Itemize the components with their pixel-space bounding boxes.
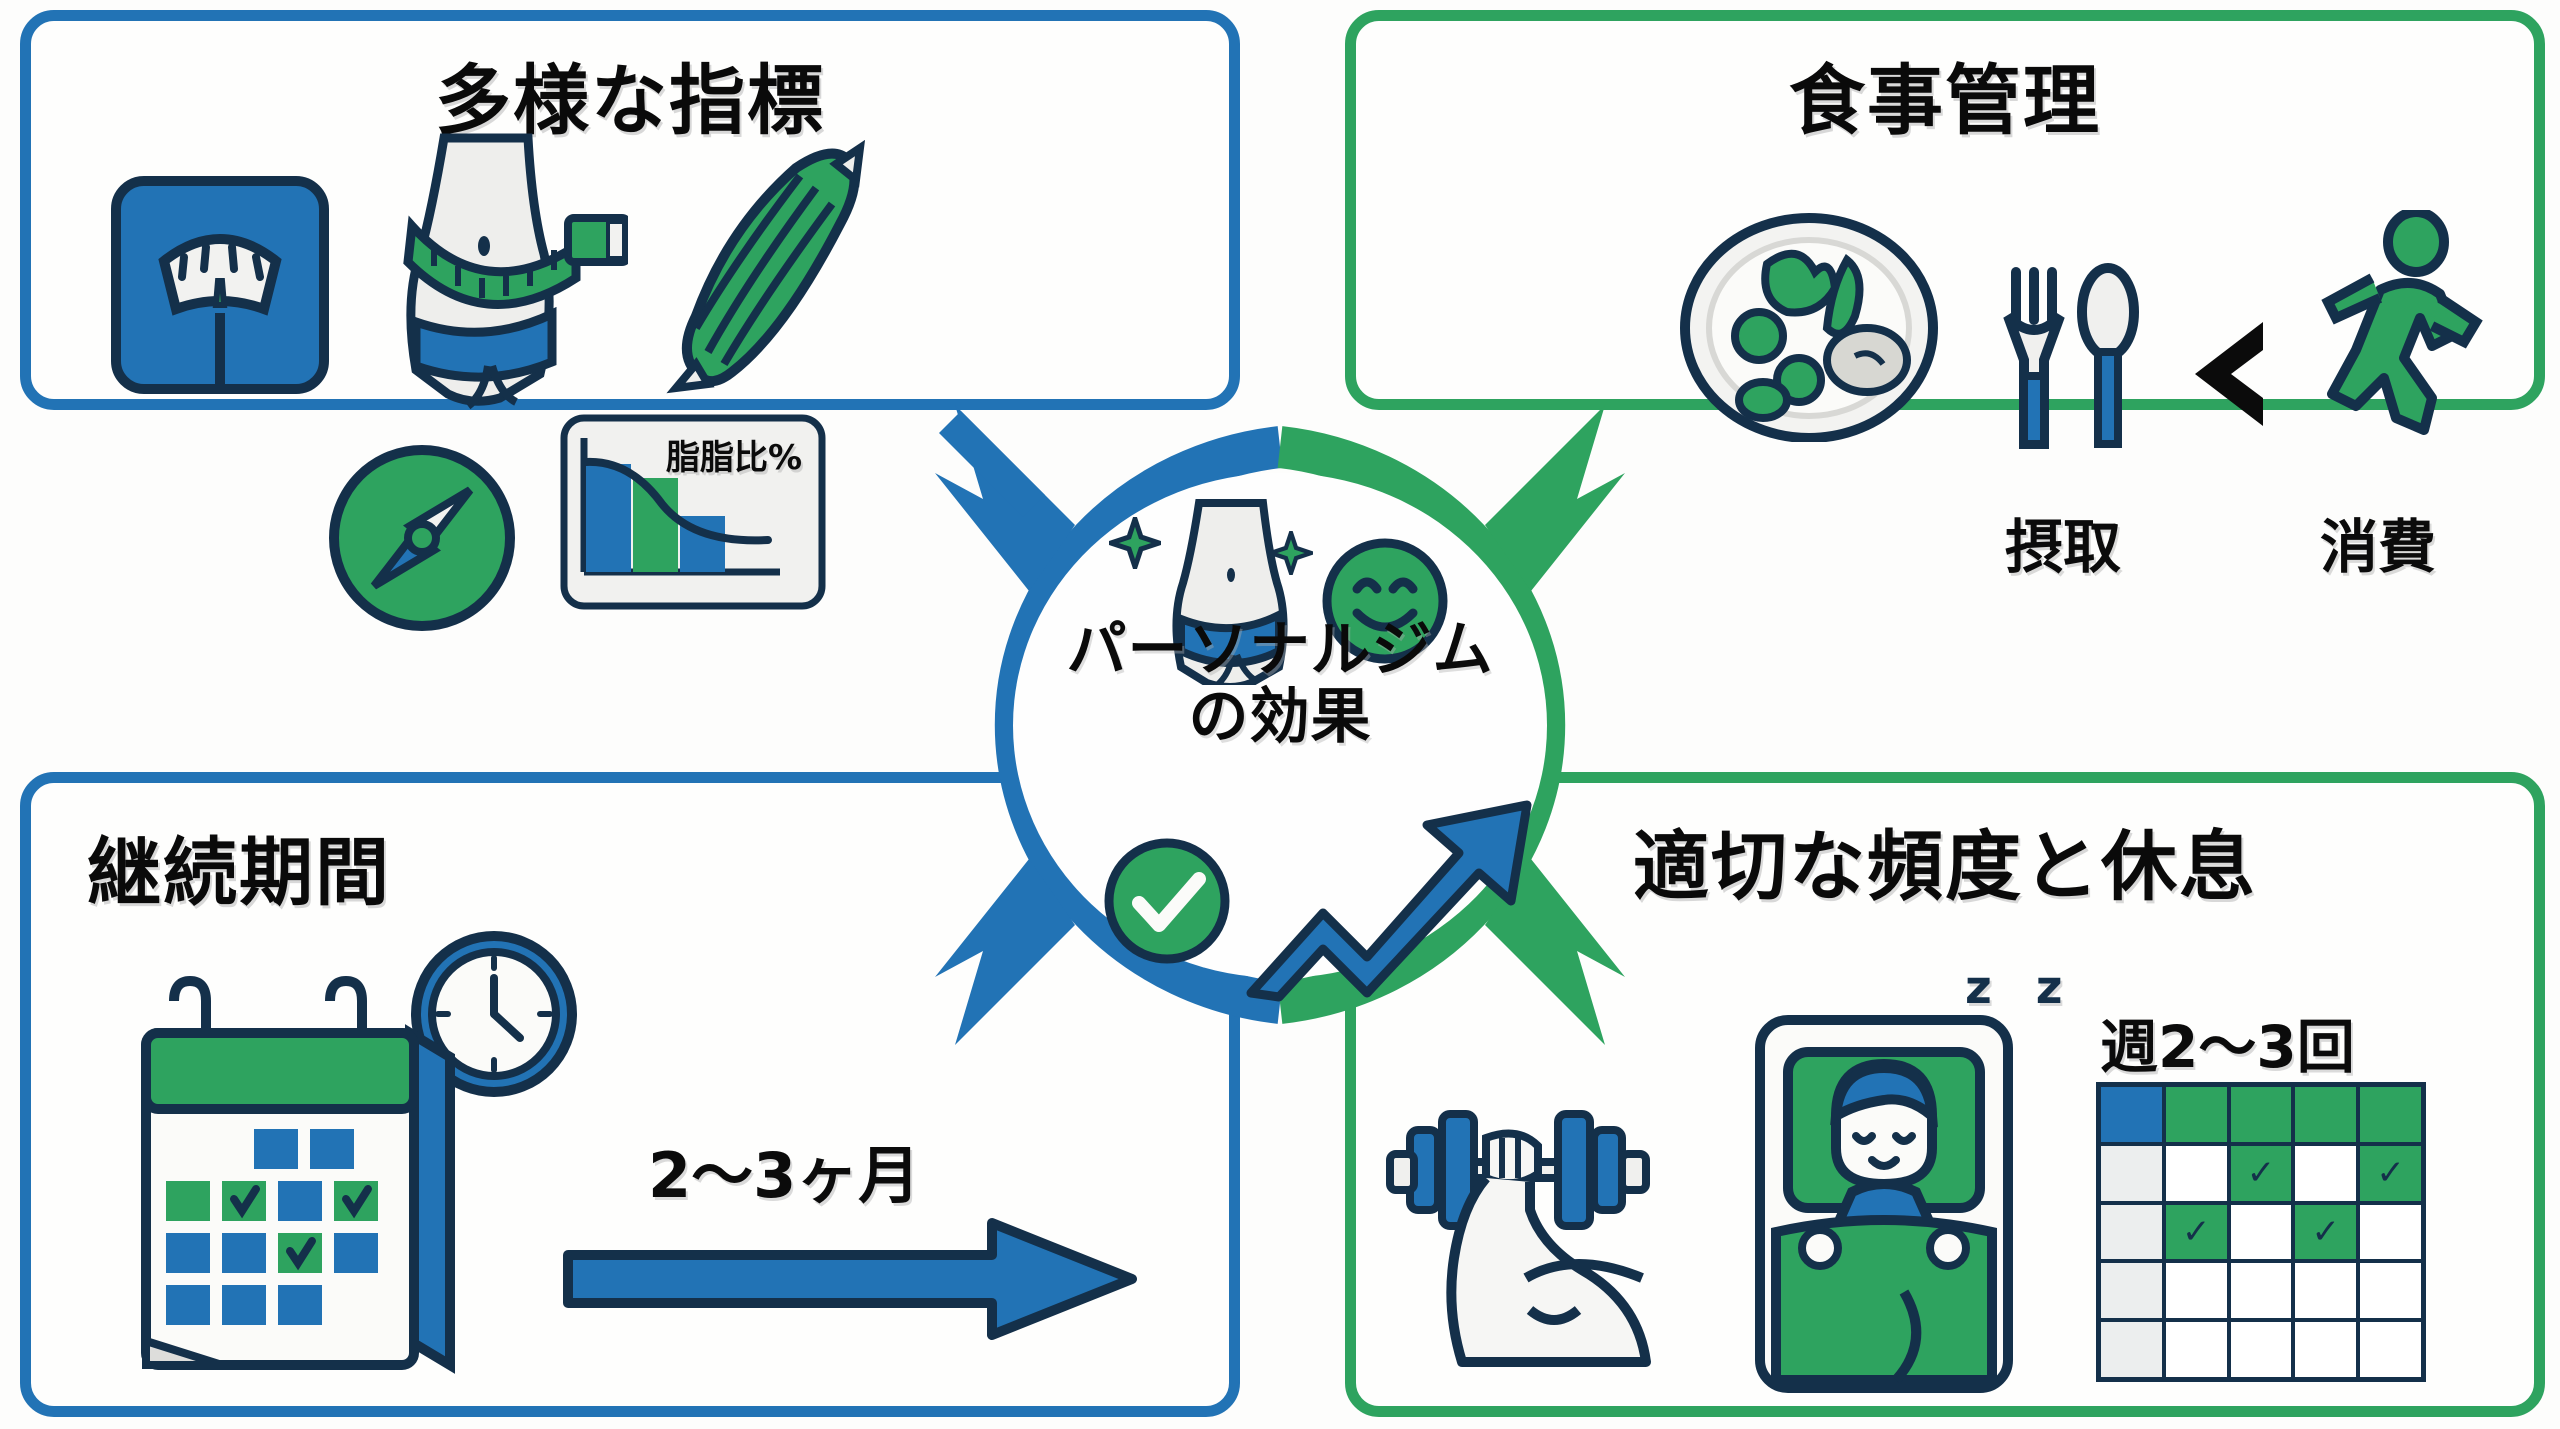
muscle-fiber-icon [640,140,870,400]
week-grid-cell [2101,1322,2162,1377]
weighing-scale-icon [100,165,340,405]
label-intake: 摂取 [2005,500,2121,584]
week-grid-cell [2166,1263,2227,1318]
panel-title-diet-management: 食事管理 [1356,39,2534,149]
week-grid-cell [2231,1087,2292,1142]
calendar-icon [110,965,510,1385]
check-circle-icon [1103,837,1231,965]
waist-measure-icon [368,130,628,420]
frequency-label: 週2〜3回 [2100,1000,2355,1084]
week-grid-cell [2166,1146,2227,1201]
center-title-line2: の効果 [925,684,1635,751]
week-grid-cell [2231,1263,2292,1318]
week-grid-cell [2101,1087,2162,1142]
week-grid-cell: ✓ [2231,1146,2292,1201]
week-grid-cell [2360,1087,2421,1142]
center-title-line1: パーソナルジム [925,617,1635,684]
dumbbell-arm-icon [1382,1086,1672,1386]
center-cycle-ring: パーソナルジム の効果 [925,395,1635,1055]
week-grid-cell [2231,1205,2292,1260]
week-grid-cell [2101,1263,2162,1318]
week-grid-cell [2231,1322,2292,1377]
week-grid-cell [2101,1146,2162,1201]
week-grid-icon: ✓✓✓✓ [2096,1082,2426,1382]
duration-label: 2〜3ヶ月 [648,1125,920,1215]
healthy-plate-icon [1675,212,1945,442]
zzz-icon: z z [1965,960,2077,1014]
panel-title-duration: 継続期間 [87,813,391,920]
week-grid-cell [2166,1322,2227,1377]
label-burn: 消費 [2320,500,2436,584]
sparkle-icon-left [1109,517,1161,569]
center-title: パーソナルジム の効果 [925,617,1635,751]
panel-title-diverse-metrics: 多様な指標 [31,39,1229,149]
sparkle-icon-right [1269,531,1313,575]
week-grid-cell [2360,1205,2421,1260]
compass-icon [322,438,522,638]
week-grid-cell [2295,1322,2356,1377]
body-fat-chart-icon: 脂脂比% [558,412,828,612]
fork-spoon-icon [1992,260,2152,450]
week-grid-cell: ✓ [2360,1146,2421,1201]
week-grid-cell: ✓ [2166,1205,2227,1260]
week-grid-cell [2166,1087,2227,1142]
week-grid-cell [2295,1146,2356,1201]
timeline-arrow-icon [560,1215,1140,1345]
week-grid-cell [2360,1263,2421,1318]
week-grid-cell: ✓ [2295,1205,2356,1260]
running-person-icon [2300,210,2490,440]
body-fat-chart-label: 脂脂比% [666,430,802,479]
week-grid-cell [2101,1205,2162,1260]
less-than-icon [2175,310,2285,440]
week-grid-cell [2360,1322,2421,1377]
week-grid-cell [2295,1263,2356,1318]
week-grid-cell [2295,1087,2356,1142]
sleeping-person-icon [1740,1000,2030,1400]
infographic-canvas: 多様な指標 食事管理 継続期間 適切な頻度と休息 [0,0,2560,1429]
growth-arrow-icon [1243,785,1543,1005]
